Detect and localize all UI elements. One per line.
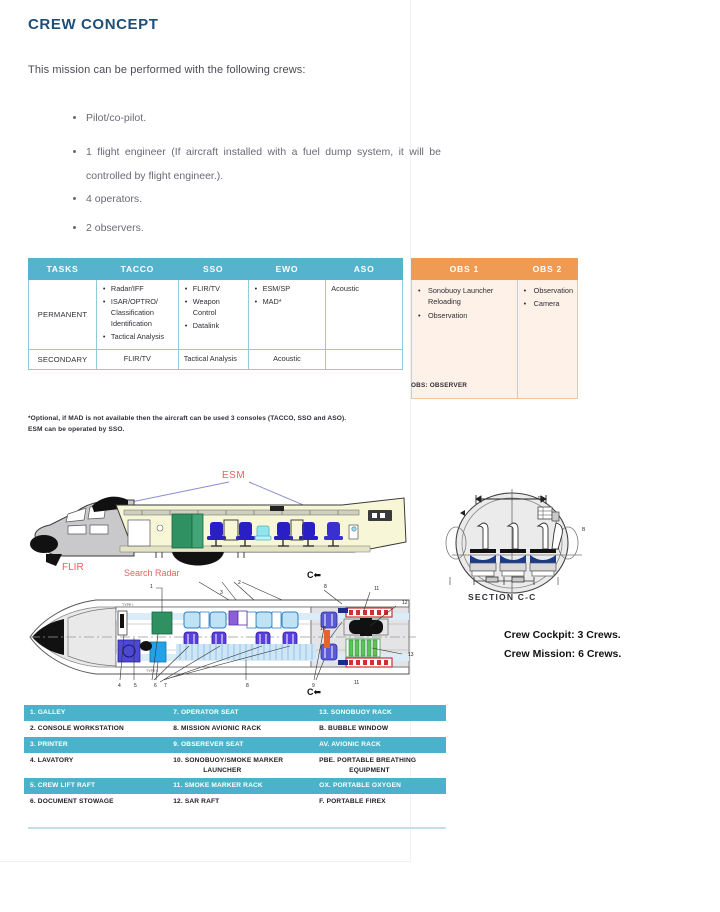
svg-text:1: 1 [150, 584, 153, 590]
svg-text:2: 2 [238, 580, 241, 586]
list-item: Pilot/co-pilot. [86, 111, 441, 126]
section-marker-bottom: C⬅ [307, 687, 321, 698]
cell-permanent-aso: Acoustic [326, 280, 403, 350]
legend-cell: 13. SONOBUOY RACK [313, 705, 446, 721]
legend-cell: F. PORTABLE FIREX [313, 794, 446, 810]
list-item: 1 flight engineer (If aircraft installed… [86, 140, 441, 188]
svg-text:11: 11 [374, 586, 379, 592]
list-item: Observation [534, 285, 573, 296]
list-item: 4 operators. [86, 192, 441, 207]
col-header-tasks: TASKS [29, 259, 97, 280]
legend-cell-line1: PBE. PORTABLE BREATHING [319, 757, 416, 764]
obs-table-header-row: OBS 1 OBS 2 [412, 259, 578, 280]
flir-turret [30, 535, 58, 553]
sonobuoy-launcher [324, 630, 330, 648]
table-footnote: *Optional, if MAD is not available then … [28, 414, 358, 435]
list-item: Tactical Analysis [111, 332, 173, 343]
col-header-tacco: TACCO [96, 259, 178, 280]
svg-text:B: B [582, 527, 586, 533]
sar-raft [344, 618, 388, 636]
svg-text:12: 12 [402, 600, 408, 606]
list-item: Weapon Control [193, 297, 243, 319]
cabin-floor [120, 546, 370, 552]
svg-text:8: 8 [324, 584, 327, 590]
legend-table: 1. GALLEY 7. OPERATOR SEAT 13. SONOBUOY … [24, 705, 446, 810]
col-header-aso: ASO [326, 259, 403, 280]
svg-text:3: 3 [220, 590, 223, 596]
table-row: 3. PRINTER 9. OBSEREVER SEAT AV. AVIONIC… [24, 737, 446, 753]
svg-text:6: 6 [154, 683, 157, 689]
legend-cell: AV. AVIONIC RACK [313, 737, 446, 753]
legend-bottom-rule [28, 827, 446, 829]
table-row: 5. CREW LIFT RAFT 11. SMOKE MARKER RACK … [24, 778, 446, 794]
obs-legend-note: OBS: OBSERVER [411, 382, 467, 389]
legend-cell: 7. OPERATOR SEAT [167, 705, 313, 721]
legend-cell: 2. CONSOLE WORKSTATION [24, 721, 167, 737]
crew-raft-plan [140, 641, 152, 651]
legend-cell: B. BUBBLE WINDOW [313, 721, 446, 737]
crew-cockpit-line: Crew Cockpit: 3 Crews. [504, 626, 621, 645]
row-label-permanent: PERMANENT [29, 280, 97, 350]
legend-cell: 8. MISSION AVIONIC RACK [167, 721, 313, 737]
table-row: SECONDARY FLIR/TV Tactical Analysis Acou… [29, 349, 403, 369]
col-header-obs1: OBS 1 [412, 259, 518, 280]
table-row: Sonobuoy Launcher Reloading Observation … [412, 280, 578, 399]
table-row: 1. GALLEY 7. OPERATOR SEAT 13. SONOBUOY … [24, 705, 446, 721]
section-cc-label: SECTION C-C [468, 592, 536, 602]
svg-text:11: 11 [354, 680, 359, 686]
door-marker [338, 660, 348, 665]
legend-cell: OX. PORTABLE OXYGEN [313, 778, 446, 794]
col-header-ewo: EWO [248, 259, 326, 280]
list-item: ISAR/OPTRO/ Classification Identificatio… [111, 297, 173, 330]
svg-text:TYPE II: TYPE II [146, 669, 158, 673]
table-row: PERMANENT Radar/IFF ISAR/OPTRO/ Classifi… [29, 280, 403, 350]
observer-seat [255, 526, 271, 540]
legend-cell: 6. DOCUMENT STOWAGE [24, 794, 167, 810]
search-radar-radome [172, 552, 224, 566]
cell-obs2: Observation Camera [517, 280, 577, 399]
table-row: 6. DOCUMENT STOWAGE 12. SAR RAFT F. PORT… [24, 794, 446, 810]
legend-cell-line1: 10. SONOBUOY/SMOKE MARKER [173, 757, 283, 764]
galley-plan [152, 612, 172, 634]
esm-label: ESM [222, 470, 245, 481]
forward-unit-detail [120, 614, 124, 628]
door-marker [338, 608, 348, 613]
overhead-antenna [270, 506, 284, 511]
flir-label: FLIR [62, 562, 84, 573]
list-item: MAD* [263, 297, 321, 308]
cell-secondary-tacco: FLIR/TV [96, 349, 178, 369]
obs-table: OBS 1 OBS 2 Sonobuoy Launcher Reloading … [411, 258, 578, 399]
svg-text:B: B [538, 495, 541, 500]
tasks-table-header-row: TASKS TACCO SSO EWO ASO [29, 259, 403, 280]
cell-permanent-tacco: Radar/IFF ISAR/OPTRO/ Classification Ide… [96, 280, 178, 350]
overhead-rail [124, 510, 359, 515]
svg-text:10: 10 [320, 626, 326, 632]
side-dimension-arrow [460, 510, 465, 516]
legend-cell: 9. OBSEREVER SEAT [167, 737, 313, 753]
col-header-obs2: OBS 2 [517, 259, 577, 280]
document-stowage-plan [150, 642, 166, 662]
galley-unit [172, 514, 192, 548]
row-label-secondary: SECONDARY [29, 349, 97, 369]
intro-paragraph: This mission can be performed with the f… [28, 64, 306, 76]
list-item: Observation [428, 310, 513, 321]
legend-cell-line2: LAUNCHER [173, 766, 307, 776]
legend-cell: 1. GALLEY [24, 705, 167, 721]
list-item: FLIR/TV [193, 284, 243, 295]
svg-text:5: 5 [134, 683, 137, 689]
table-row: 4. LAVATORY 10. SONOBUOY/SMOKE MARKER LA… [24, 753, 446, 779]
cell-obs1: Sonobuoy Launcher Reloading Observation [412, 280, 518, 399]
cell-secondary-ewo: Acoustic [248, 349, 326, 369]
page-title: CREW CONCEPT [28, 16, 159, 33]
crew-count-summary: Crew Cockpit: 3 Crews. Crew Mission: 6 C… [504, 626, 621, 665]
tasks-table: TASKS TACCO SSO EWO ASO PERMANENT Radar/… [28, 258, 403, 370]
section-marker-top: C⬅ [307, 570, 321, 581]
legend-cell: 3. PRINTER [24, 737, 167, 753]
sonobuoy-rack [346, 639, 380, 657]
nose-gear-fairing [46, 554, 62, 566]
legend-cell: 10. SONOBUOY/SMOKE MARKER LAUNCHER [167, 753, 313, 779]
overhead-panel [538, 507, 559, 521]
legend-cell: 4. LAVATORY [24, 753, 167, 779]
legend-cell-line2: EQUIPMENT [319, 766, 440, 776]
entry-door [128, 520, 150, 546]
aircraft-plan-view-diagram: TYPE I TYPE II 123 456 789 10811 111213 [24, 580, 419, 695]
legend-cell: 12. SAR RAFT [167, 794, 313, 810]
cell-secondary-aso [326, 349, 403, 369]
galley-unit-secondary [192, 514, 203, 548]
printer-plan [229, 611, 238, 625]
svg-text:13: 13 [408, 652, 414, 658]
crew-bullet-list: Pilot/co-pilot. 1 flight engineer (If ai… [46, 111, 441, 251]
list-item: Radar/IFF [111, 284, 173, 295]
list-item: 2 observers. [86, 221, 441, 236]
cell-permanent-ewo: ESM/SP MAD* [248, 280, 326, 350]
list-item: ESM/SP [263, 284, 321, 295]
svg-text:TYPE I: TYPE I [122, 603, 133, 607]
svg-text:4: 4 [118, 683, 121, 689]
list-item: Camera [534, 298, 573, 309]
svg-text:8: 8 [246, 683, 249, 689]
cell-secondary-sso: Tactical Analysis [178, 349, 248, 369]
list-item: Datalink [193, 321, 243, 332]
legend-cell: PBE. PORTABLE BREATHING EQUIPMENT [313, 753, 446, 779]
list-item: Sonobuoy Launcher Reloading [428, 285, 513, 308]
lavatory-plan [118, 640, 140, 662]
legend-cell: 5. CREW LIFT RAFT [24, 778, 167, 794]
col-header-sso: SSO [178, 259, 248, 280]
search-radar-label: Search Radar [124, 568, 180, 578]
crew-mission-line: Crew Mission: 6 Crews. [504, 645, 621, 664]
svg-text:7: 7 [164, 683, 167, 689]
cell-permanent-sso: FLIR/TV Weapon Control Datalink [178, 280, 248, 350]
window [157, 525, 163, 531]
table-row: 2. CONSOLE WORKSTATION 8. MISSION AVIONI… [24, 721, 446, 737]
legend-cell: 11. SMOKE MARKER RACK [167, 778, 313, 794]
